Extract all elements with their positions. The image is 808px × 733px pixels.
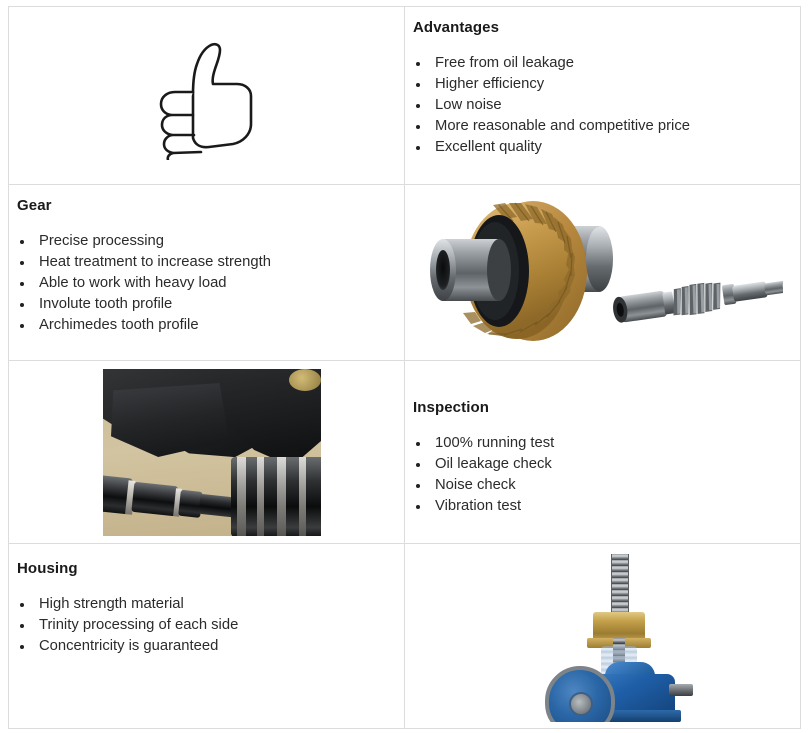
cell-advantages-text: Advantages Free from oil leakage Higher … [405, 7, 801, 185]
cell-lathe-image [9, 361, 405, 544]
section-heading-inspection: Inspection [413, 399, 790, 417]
cell-thumbs-up-image [9, 7, 405, 185]
list-item: Excellent quality [413, 137, 790, 158]
cell-housing-text: Housing High strength material Trinity p… [9, 544, 405, 729]
list-item: Involute tooth profile [17, 294, 394, 315]
list-item: Archimedes tooth profile [17, 315, 394, 336]
list-item: 100% running test [413, 433, 790, 454]
list-item: Able to work with heavy load [17, 273, 394, 294]
list-item: Concentricity is guaranteed [17, 636, 394, 657]
worm-gear-photo [421, 191, 783, 355]
cell-inspection-text: Inspection 100% running test Oil leakage… [405, 361, 801, 544]
list-item: More reasonable and competitive price [413, 116, 790, 137]
list-item: Noise check [413, 475, 790, 496]
list-item: Vibration test [413, 496, 790, 517]
section-heading-gear: Gear [17, 197, 394, 215]
cell-gear-image [405, 185, 801, 361]
cell-gear-text: Gear Precise processing Heat treatment t… [9, 185, 405, 361]
section-heading-housing: Housing [17, 560, 394, 578]
table-row: Advantages Free from oil leakage Higher … [9, 7, 801, 185]
list-item: Higher efficiency [413, 74, 790, 95]
product-feature-table: Advantages Free from oil leakage Higher … [8, 6, 801, 729]
list-item: Oil leakage check [413, 454, 790, 475]
cell-screw-jack-image [405, 544, 801, 729]
list-item: Low noise [413, 95, 790, 116]
list-item: High strength material [17, 594, 394, 615]
table-row: Gear Precise processing Heat treatment t… [9, 185, 801, 361]
list-item: Trinity processing of each side [17, 615, 394, 636]
advantages-bullet-list: Free from oil leakage Higher efficiency … [413, 53, 790, 158]
table-row: Inspection 100% running test Oil leakage… [9, 361, 801, 544]
lathe-machining-photo [103, 369, 321, 536]
input-shaft-stub [669, 684, 693, 696]
housing-bullet-list: High strength material Trinity processin… [17, 594, 394, 657]
mounting-foot [607, 710, 681, 722]
table-row: Housing High strength material Trinity p… [9, 544, 801, 729]
inspection-bullet-list: 100% running test Oil leakage check Nois… [413, 433, 790, 517]
thumbs-up-icon [9, 7, 404, 184]
list-item: Precise processing [17, 231, 394, 252]
list-item: Free from oil leakage [413, 53, 790, 74]
list-item: Heat treatment to increase strength [17, 252, 394, 273]
page-title: Advantages [413, 19, 790, 37]
gear-bullet-list: Precise processing Heat treatment to inc… [17, 231, 394, 336]
screw-jack-photo [529, 550, 709, 722]
